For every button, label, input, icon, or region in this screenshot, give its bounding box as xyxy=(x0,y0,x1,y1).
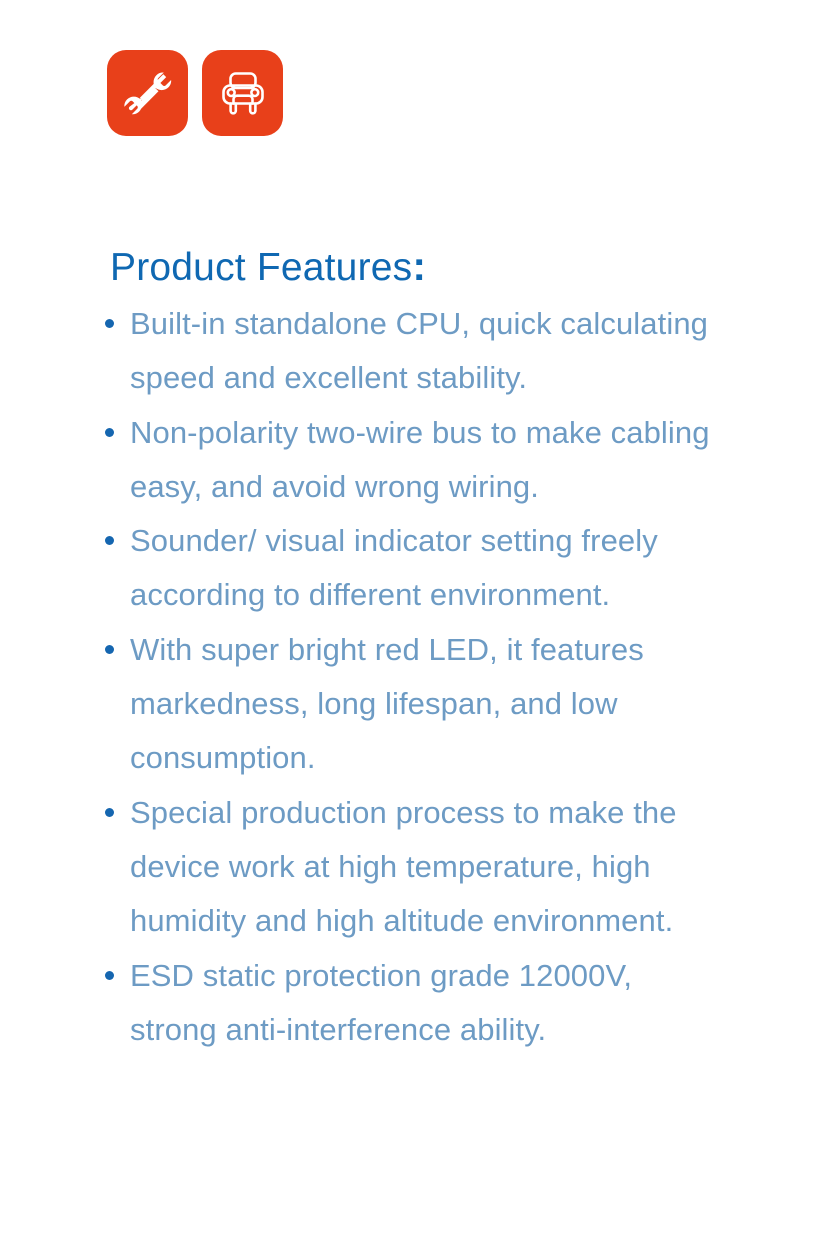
page-title-text: Product Features xyxy=(110,246,412,289)
bullet-icon xyxy=(105,808,114,817)
bullet-icon xyxy=(105,645,114,654)
list-item: Special production process to make the d… xyxy=(101,786,726,949)
bullet-icon xyxy=(105,428,114,437)
list-item-text: With super bright red LED, it features m… xyxy=(130,632,644,776)
list-item: Sounder/ visual indicator setting freely… xyxy=(101,514,726,623)
list-item-text: Built-in standalone CPU, quick calculati… xyxy=(130,306,708,395)
product-features-list: Built-in standalone CPU, quick calculati… xyxy=(101,297,726,1057)
list-item: ESD static protection grade 12000V, stro… xyxy=(101,949,726,1058)
list-item: Built-in standalone CPU, quick calculati… xyxy=(101,297,726,406)
list-item-text: Special production process to make the d… xyxy=(130,795,677,939)
bullet-icon xyxy=(105,319,114,328)
page-title-colon: : xyxy=(412,243,425,289)
page-title: Product Features: xyxy=(110,240,425,294)
car-icon-tile xyxy=(202,50,283,136)
list-item-text: Non-polarity two-wire bus to make cablin… xyxy=(130,415,710,504)
car-front-icon xyxy=(217,67,269,119)
icon-row xyxy=(107,50,283,136)
list-item-text: Sounder/ visual indicator setting freely… xyxy=(130,523,658,612)
tools-wrench-screwdriver-icon xyxy=(122,67,174,119)
list-item: With super bright red LED, it features m… xyxy=(101,623,726,786)
product-features-page: Product Features: Built-in standalone CP… xyxy=(0,0,823,1235)
bullet-icon xyxy=(105,971,114,980)
list-item-text: ESD static protection grade 12000V, stro… xyxy=(130,958,632,1047)
bullet-icon xyxy=(105,536,114,545)
list-item: Non-polarity two-wire bus to make cablin… xyxy=(101,406,726,515)
tools-icon-tile xyxy=(107,50,188,136)
